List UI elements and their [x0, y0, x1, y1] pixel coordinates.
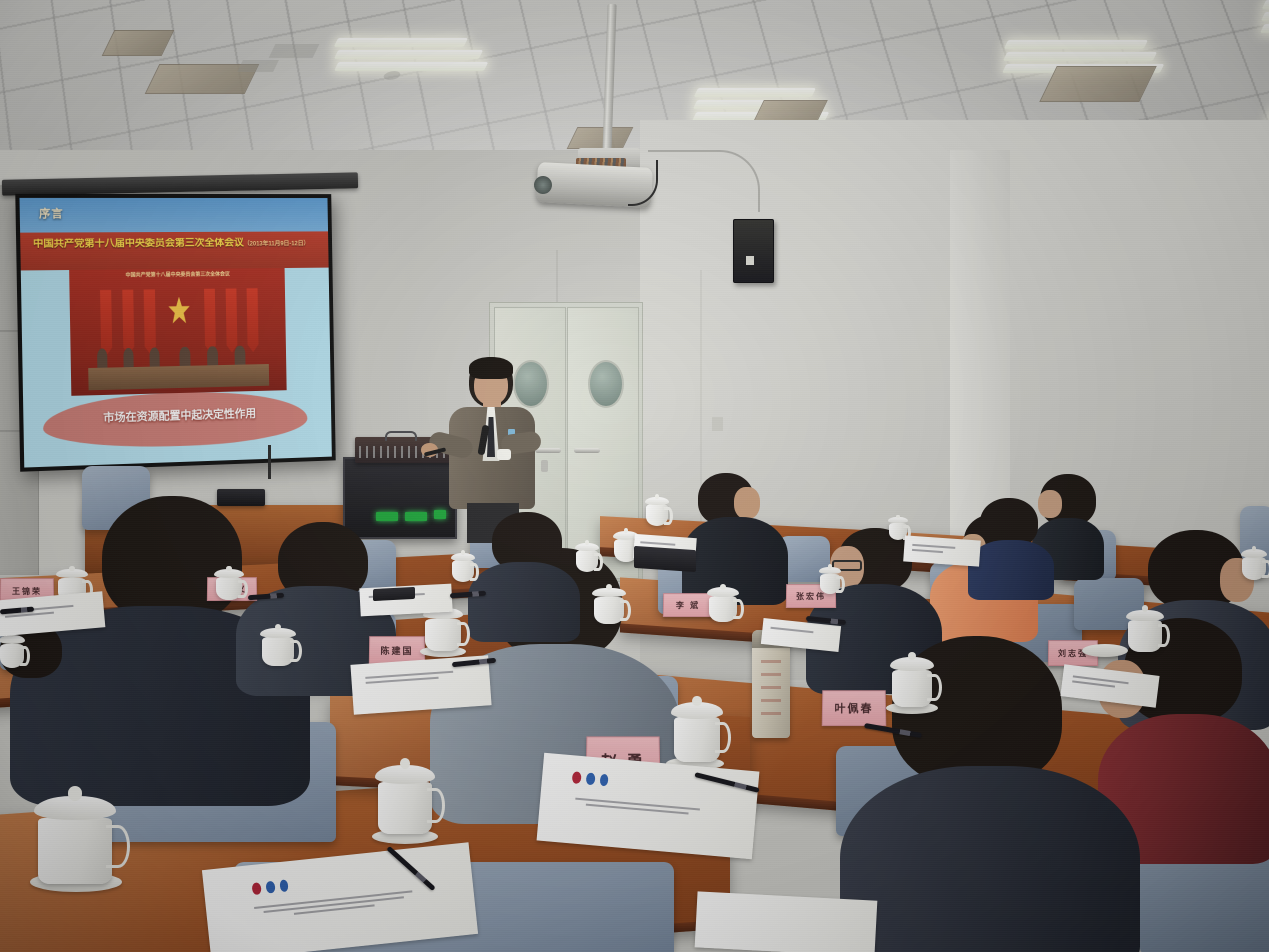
rack-led-display — [376, 512, 398, 521]
air-vent — [567, 127, 634, 149]
org-logo-icon — [252, 883, 262, 896]
name-card-label: 陈建国 — [380, 644, 413, 657]
presenter — [443, 357, 541, 537]
flag-icon — [100, 290, 113, 355]
flag-icon — [225, 288, 237, 352]
projection-screen: 序言 中国共产党第十八届中央委员会第三次全体会议（2013年11月9日-12日）… — [15, 194, 335, 472]
lidded-porcelain-teacup[interactable] — [1242, 548, 1266, 580]
name-card-label: 李 斌 — [676, 600, 700, 611]
org-logo-icon — [599, 774, 609, 787]
attendee-torso — [968, 540, 1054, 600]
ceiling-tile — [237, 60, 279, 72]
mixer-handle — [385, 431, 417, 441]
attendee — [682, 473, 788, 603]
desk-microphone — [268, 445, 271, 479]
flask-decoration — [761, 660, 781, 720]
lidded-porcelain-teacup[interactable] — [425, 606, 461, 651]
seated-figure — [235, 346, 246, 365]
wall-outlet — [712, 417, 723, 431]
slide-top-band — [19, 198, 328, 233]
lidded-porcelain-teacup[interactable] — [452, 552, 474, 582]
handout-text-lines — [911, 544, 972, 558]
slide-photo-caption: 中国共产党第十八届中央委员会第三次全体会议 — [69, 270, 285, 279]
attendee-torso — [840, 766, 1140, 952]
org-logo-icon — [586, 772, 596, 785]
document-folder[interactable] — [373, 587, 415, 601]
door-handle[interactable] — [574, 448, 600, 453]
flag-icon — [144, 289, 156, 354]
door-lock-icon — [541, 460, 548, 472]
lidded-porcelain-teacup[interactable] — [216, 568, 242, 600]
attendee-head — [102, 496, 242, 624]
lidded-porcelain-teacup[interactable] — [262, 626, 294, 666]
seated-figure — [123, 348, 134, 367]
rack-led-display — [405, 512, 427, 521]
name-card: 李 斌 — [663, 593, 713, 617]
handout-text-lines — [561, 797, 734, 822]
lidded-porcelain-teacup[interactable] — [674, 700, 720, 762]
presenter-hair — [469, 357, 513, 379]
saucer — [1082, 644, 1128, 657]
seated-figure — [149, 348, 160, 367]
lidded-porcelain-teacup[interactable] — [594, 586, 624, 624]
attendee-face — [734, 487, 760, 519]
handout-text-lines — [365, 669, 476, 687]
attendee-torso — [468, 562, 580, 642]
fluorescent-light-fixture — [322, 38, 498, 71]
seated-figure — [207, 347, 218, 366]
name-card: 叶佩春 — [822, 690, 887, 726]
lidded-porcelain-teacup[interactable] — [820, 566, 840, 594]
handout-logo-row — [252, 880, 289, 896]
speaker-badge-icon — [746, 256, 754, 265]
slide-title-date: （2013年11月9日-12日） — [244, 241, 310, 247]
flag-icon — [122, 290, 134, 355]
handout-text-lines — [1071, 675, 1148, 694]
attendee — [968, 498, 1054, 588]
upholstered-chair[interactable] — [1140, 850, 1269, 952]
lidded-porcelain-teacup[interactable] — [709, 586, 737, 622]
party-emblem-icon — [165, 296, 194, 334]
ceiling-tile — [269, 44, 320, 58]
slide-title: 中国共产党第十八届中央委员会第三次全体会议（2013年11月9日-12日） — [33, 237, 316, 250]
slide-section-tag: 序言 — [39, 205, 64, 221]
org-logo-icon — [279, 880, 289, 893]
lidded-porcelain-teacup[interactable] — [646, 496, 668, 526]
handout-text-lines — [770, 627, 833, 638]
lidded-porcelain-teacup[interactable] — [0, 634, 24, 668]
seated-figure — [179, 347, 190, 366]
wall-speaker — [733, 219, 774, 283]
printed-handout[interactable] — [903, 535, 981, 566]
org-logo-icon — [572, 771, 582, 784]
name-card-label: 王锦荣 — [12, 586, 42, 597]
printed-handout[interactable] — [695, 891, 878, 952]
slide-content: 序言 中国共产党第十八届中央委员会第三次全体会议（2013年11月9日-12日）… — [19, 198, 331, 468]
air-vent — [102, 30, 175, 56]
attendee — [468, 512, 580, 622]
conference-room-photo: 序言 中国共产党第十八届中央委员会第三次全体会议（2013年11月9日-12日）… — [0, 0, 1269, 952]
projector-cable — [648, 150, 760, 212]
air-vent — [1039, 66, 1157, 102]
lidded-porcelain-teacup[interactable] — [892, 655, 932, 707]
lidded-porcelain-teacup[interactable] — [38, 792, 112, 884]
slide-title-main: 中国共产党第十八届中央委员会第三次全体会议 — [33, 238, 244, 250]
slide-photo: 中国共产党第十八届中央委员会第三次全体会议 — [69, 268, 287, 396]
presenter-cuff — [497, 449, 511, 460]
handout-logo-row — [572, 771, 609, 786]
lidded-porcelain-teacup[interactable] — [378, 762, 432, 834]
org-logo-icon — [265, 881, 275, 894]
lidded-porcelain-teacup[interactable] — [576, 542, 598, 572]
lidded-porcelain-teacup[interactable] — [1128, 608, 1162, 652]
flag-icon — [204, 289, 216, 353]
round-door-window — [588, 360, 624, 408]
flag-icon — [247, 288, 259, 352]
name-card-label: 叶佩春 — [834, 700, 873, 716]
seated-figure — [97, 349, 108, 368]
document-folder[interactable] — [634, 546, 696, 572]
slide-podium — [88, 364, 269, 391]
printed-handout[interactable] — [537, 753, 760, 859]
